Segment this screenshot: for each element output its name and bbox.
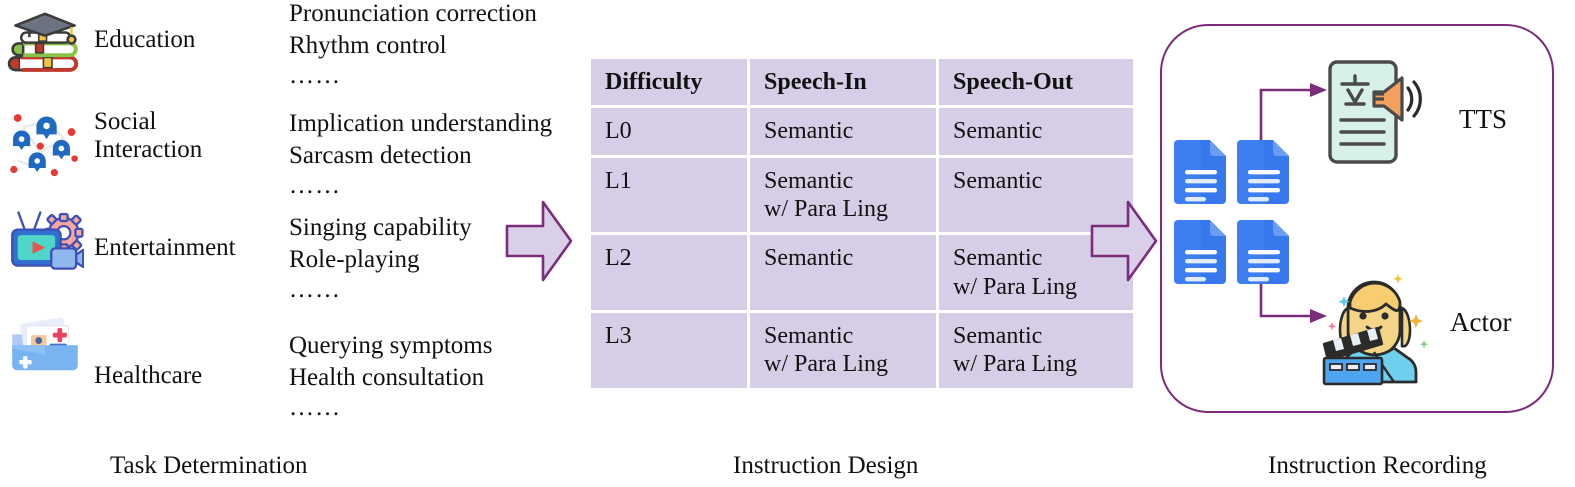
- caption-task-determination: Task Determination: [110, 452, 308, 480]
- stage-arrow-1: [503, 198, 575, 289]
- document-file-icon: [1235, 218, 1293, 291]
- category-label-healthcare: Healthcare: [94, 362, 202, 390]
- cell-speech-in: Semantic w/ Para Ling: [750, 158, 936, 233]
- table-header-difficulty: Difficulty: [591, 59, 747, 105]
- output-label-tts: TTS: [1459, 104, 1507, 135]
- difficulty-table: Difficulty Speech-In Speech-Out L0 Seman…: [588, 56, 1136, 391]
- table-header-speech-out: Speech-Out: [939, 59, 1133, 105]
- actor-clapperboard-icon: [1316, 268, 1440, 391]
- cell-difficulty: L2: [591, 235, 747, 310]
- category-label-education: Education: [94, 26, 195, 54]
- category-tasks-education: Pronunciation correction Rhythm control: [289, 0, 537, 62]
- document-file-icon: [1172, 138, 1230, 211]
- cell-difficulty: L3: [591, 313, 747, 388]
- table-row: L3 Semantic w/ Para Ling Semantic w/ Par…: [591, 313, 1133, 388]
- table-header-speech-in: Speech-In: [750, 59, 936, 105]
- cell-speech-in: Semantic w/ Para Ling: [750, 313, 936, 388]
- cell-speech-out: Semantic: [939, 108, 1133, 154]
- category-tasks-social-interaction: Implication understanding Sarcasm detect…: [289, 108, 552, 172]
- caption-instruction-design: Instruction Design: [733, 452, 918, 480]
- cell-speech-in: Semantic: [750, 108, 936, 154]
- table-row: L1 Semantic w/ Para Ling Semantic: [591, 158, 1133, 233]
- stage-arrow-2: [1088, 198, 1160, 289]
- category-icon-entertainment: [6, 200, 84, 283]
- category-ellipsis-education: ……: [289, 62, 341, 90]
- caption-instruction-recording: Instruction Recording: [1268, 452, 1487, 480]
- category-ellipsis-entertainment: ……: [289, 276, 341, 304]
- cell-speech-out: Semantic w/ Para Ling: [939, 313, 1133, 388]
- output-label-actor: Actor: [1450, 307, 1511, 338]
- document-file-icon: [1235, 138, 1293, 211]
- tts-speaker-document-icon: [1322, 58, 1432, 175]
- table-row: L0 Semantic Semantic: [591, 108, 1133, 154]
- category-label-social-interaction: Social Interaction: [94, 108, 202, 164]
- document-file-icon: [1172, 218, 1230, 291]
- category-icon-education: [6, 6, 84, 89]
- category-tasks-entertainment: Singing capability Role-playing: [289, 212, 472, 276]
- category-ellipsis-social-interaction: ……: [289, 172, 341, 200]
- pipeline-diagram: Education Pronunciation correction Rhyth…: [0, 0, 1575, 487]
- cell-difficulty: L1: [591, 158, 747, 233]
- category-icon-social-interaction: [6, 104, 84, 187]
- cell-speech-in: Semantic: [750, 235, 936, 310]
- category-ellipsis-healthcare: ……: [289, 394, 341, 422]
- table-header-row: Difficulty Speech-In Speech-Out: [591, 59, 1133, 105]
- category-icon-healthcare: [6, 300, 84, 383]
- instruction-design-table: Difficulty Speech-In Speech-Out L0 Seman…: [588, 56, 1136, 391]
- category-tasks-healthcare: Querying symptoms Health consultation: [289, 330, 492, 394]
- category-label-entertainment: Entertainment: [94, 234, 236, 262]
- cell-difficulty: L0: [591, 108, 747, 154]
- table-row: L2 Semantic Semantic w/ Para Ling: [591, 235, 1133, 310]
